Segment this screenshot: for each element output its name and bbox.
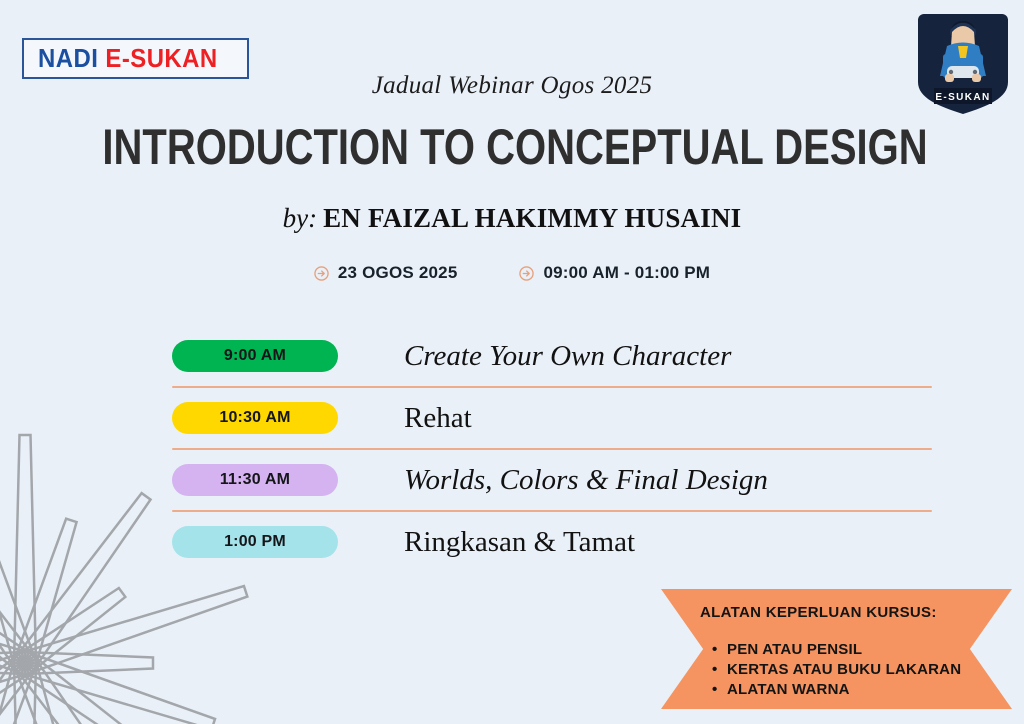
materials-list-item: ALATAN WARNA — [712, 680, 961, 700]
materials-list-item: KERTAS ATAU BUKU LAKARAN — [712, 660, 961, 680]
schedule-session-title: Ringkasan & Tamat — [404, 526, 635, 559]
esukan-badge: E-SUKAN — [914, 8, 1012, 116]
schedule-divider — [172, 386, 932, 388]
event-meta-row: 23 OGOS 2025 09:00 AM - 01:00 PM — [0, 263, 1024, 283]
page-title: INTRODUCTION TO CONCEPTUAL DESIGN — [102, 122, 921, 172]
materials-item-list: PEN ATAU PENSILKERTAS ATAU BUKU LAKARANA… — [712, 640, 961, 700]
starburst-spoke — [0, 530, 35, 666]
nadi-esukan-logo-text: NADI E-SUKAN — [38, 45, 218, 71]
circle-arrow-right-icon — [314, 266, 329, 281]
schedule-list: 9:00 AMCreate Your Own Character10:30 AM… — [172, 334, 932, 572]
starburst-spoke — [0, 590, 28, 673]
starburst-spoke — [16, 657, 161, 724]
schedule-divider — [172, 448, 932, 450]
schedule-row: 10:30 AMRehat — [172, 396, 932, 440]
event-time: 09:00 AM - 01:00 PM — [519, 263, 710, 283]
event-date: 23 OGOS 2025 — [314, 263, 458, 283]
materials-heading: ALATAN KEPERLUAN KURSUS: — [700, 604, 937, 621]
schedule-divider — [172, 510, 932, 512]
starburst-spoke — [15, 519, 77, 667]
starburst-spoke — [0, 495, 34, 670]
event-time-text: 09:00 AM - 01:00 PM — [543, 263, 710, 283]
starburst-spoke — [25, 652, 153, 674]
schedule-row: 9:00 AMCreate Your Own Character — [172, 334, 932, 378]
starburst-spoke — [22, 653, 215, 724]
circle-arrow-right-icon — [519, 266, 534, 281]
speaker-line: by:EN FAIZAL HAKIMMY HUSAINI — [0, 203, 1024, 234]
starburst-spoke — [14, 435, 36, 663]
badge-label-text: E-SUKAN — [935, 92, 990, 103]
schedule-time-pill: 9:00 AM — [172, 340, 338, 372]
schedule-time-pill: 11:30 AM — [172, 464, 338, 496]
starburst-spoke — [19, 588, 126, 672]
speaker-by-label: by: — [283, 203, 317, 233]
starburst-spoke — [0, 653, 28, 724]
starburst-spoke — [15, 660, 67, 724]
event-date-text: 23 OGOS 2025 — [338, 263, 458, 283]
nadi-esukan-logo: NADI E-SUKAN — [22, 38, 249, 79]
starburst-spoke — [19, 654, 144, 724]
logo-word-nadi: NADI — [38, 43, 98, 73]
starburst-spoke — [0, 654, 31, 724]
schedule-time-pill: 1:00 PM — [172, 526, 338, 558]
schedule-session-title: Worlds, Colors & Final Design — [404, 464, 768, 497]
starburst-spoke — [16, 493, 150, 669]
schedule-session-title: Rehat — [404, 402, 472, 435]
starburst-spoke — [0, 652, 25, 674]
schedule-row: 11:30 AMWorlds, Colors & Final Design — [172, 458, 932, 502]
starburst-spoke — [0, 584, 31, 671]
materials-list-item: PEN ATAU PENSIL — [712, 640, 961, 660]
schedule-row: 1:00 PMRingkasan & Tamat — [172, 520, 932, 564]
logo-word-esukan: E-SUKAN — [105, 43, 217, 73]
speaker-name: EN FAIZAL HAKIMMY HUSAINI — [323, 203, 741, 233]
schedule-session-title: Create Your Own Character — [404, 340, 731, 373]
schedule-time-pill: 10:30 AM — [172, 402, 338, 434]
starburst-spoke — [22, 586, 248, 673]
starburst-spoke — [14, 663, 36, 724]
starburst-spoke — [0, 660, 35, 724]
poster-canvas: NADI E-SUKAN E-SUKAN Jadual Webinar Ogos… — [0, 0, 1024, 724]
starburst-spoke — [0, 657, 34, 724]
